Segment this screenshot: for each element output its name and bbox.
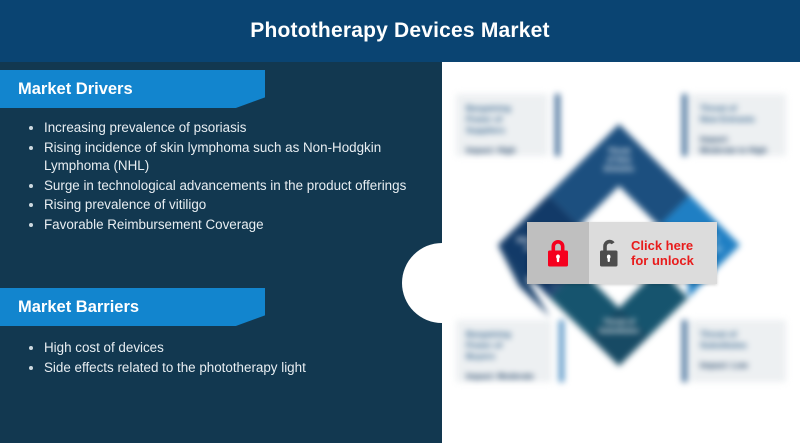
- locked-state-panel[interactable]: [527, 222, 589, 284]
- slide-root: Phototherapy Devices Market Market Drive…: [0, 0, 800, 443]
- list-item: Surge in technological advancements in t…: [28, 177, 423, 196]
- list-item: Rising incidence of skin lymphoma such a…: [28, 139, 423, 176]
- closed-padlock-icon: [545, 237, 571, 269]
- list-item: Favorable Reimbursement Coverage: [28, 216, 423, 235]
- section-heading-market-barriers: Market Barriers: [0, 288, 265, 326]
- list-item: Side effects related to the phototherapy…: [28, 359, 423, 378]
- market-drivers-list: Increasing prevalence of psoriasis Risin…: [28, 119, 423, 235]
- section-heading-market-drivers: Market Drivers: [0, 70, 265, 108]
- left-content-panel: Market Drivers Increasing prevalence of …: [0, 62, 442, 443]
- diamond-label-top: Threat of New Entrants: [574, 146, 664, 173]
- section-heading-label: Market Drivers: [18, 80, 133, 99]
- page-title: Phototherapy Devices Market: [0, 0, 800, 62]
- unlock-overlay-button[interactable]: Click here for unlock: [527, 222, 717, 284]
- market-barriers-list: High cost of devices Side effects relate…: [28, 339, 423, 378]
- panel-edge-notch: [402, 243, 442, 323]
- unlock-cta-panel[interactable]: Click here for unlock: [589, 222, 717, 284]
- diamond-label-bottom: Threat of Substitutes: [574, 317, 664, 335]
- right-diagram-panel: Bargaining Power of Suppliers Impact: Hi…: [442, 62, 800, 443]
- unlock-cta-label: Click here for unlock: [631, 238, 694, 269]
- open-padlock-icon: [597, 237, 623, 269]
- list-item: High cost of devices: [28, 339, 423, 358]
- list-item: Rising prevalence of vitiligo: [28, 196, 423, 215]
- info-box-impact: Impact: Moderate: [466, 371, 544, 382]
- section-heading-label: Market Barriers: [18, 298, 139, 317]
- list-item: Increasing prevalence of psoriasis: [28, 119, 423, 138]
